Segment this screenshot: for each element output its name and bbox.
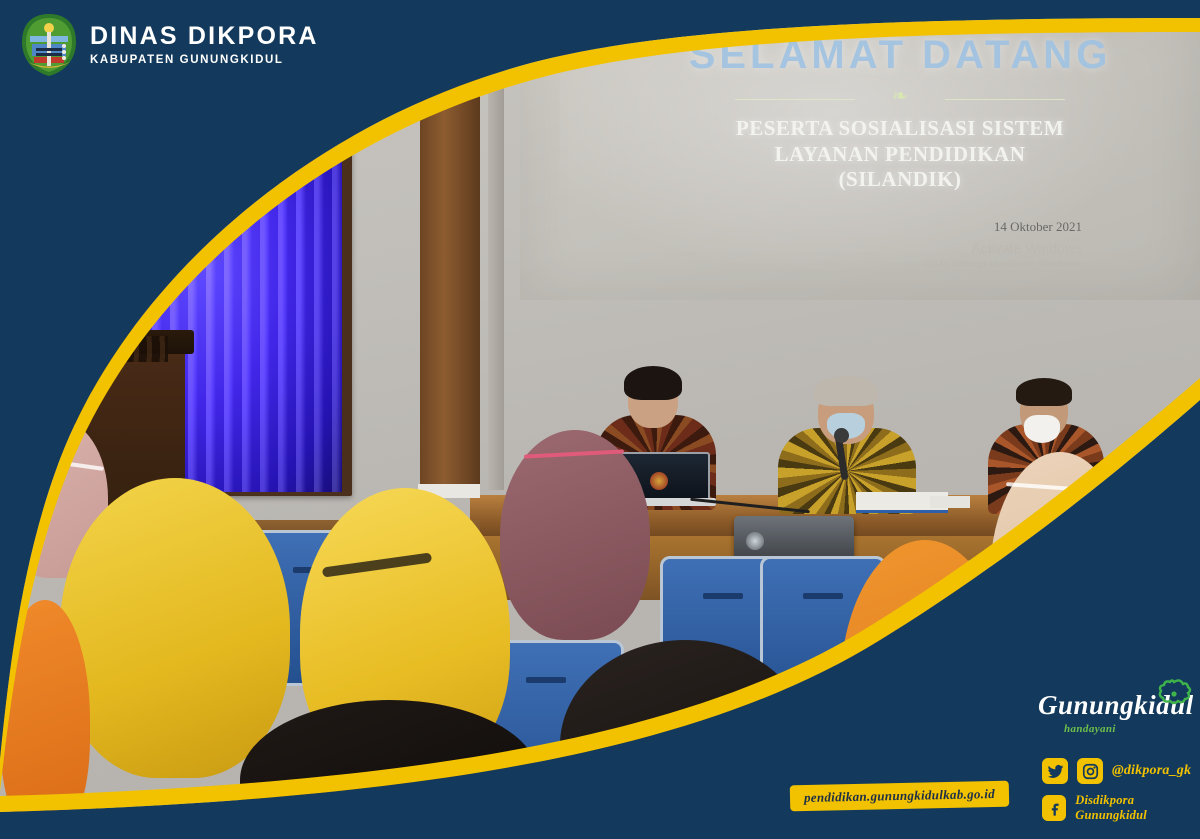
- slide-date: 14 Oktober 2021: [640, 219, 1160, 235]
- watermark-line1: Activate Windows: [640, 239, 1082, 258]
- speaker-left-hair: [624, 366, 682, 400]
- presentation-slide: SELAMAT DATANG ❧ PESERTA SOSIALISASI SIS…: [640, 34, 1160, 284]
- curtain-rod: [50, 100, 366, 108]
- slide-subtitle-line2: LAYANAN PENDIDIKAN: [640, 142, 1160, 168]
- slide-ornament-divider: ❧: [735, 92, 1065, 106]
- facebook-handle: Disdikpora Gunungkidul: [1075, 793, 1200, 823]
- header-branding: DINAS DIKPORA KABUPATEN GUNUNGKIDUL: [18, 12, 319, 78]
- organization-region: KABUPATEN GUNUNGKIDUL: [90, 55, 319, 67]
- facebook-icon[interactable]: [1042, 795, 1066, 821]
- website-url-badge[interactable]: pendidikan.gunungkidulkab.go.id: [790, 781, 1009, 812]
- podium-plaque: [44, 392, 92, 401]
- projector-lens: [746, 532, 764, 550]
- brand-tagline: handayani: [1064, 723, 1194, 735]
- wooden-door-panel: [420, 60, 480, 490]
- gunungkidul-brand-logo: Gunungkidul handayani: [1038, 692, 1194, 735]
- branded-photo-card: SELAMAT DATANG ❧ PESERTA SOSIALISASI SIS…: [0, 0, 1200, 839]
- windows-activation-watermark: Activate Windows Go to Settings to activ…: [640, 239, 1160, 271]
- name-plate-right: [930, 496, 970, 508]
- speaker-right-face-mask: [1024, 415, 1060, 443]
- ornament-glyph: ❧: [892, 85, 908, 108]
- slide-subtitle-line1: PESERTA SOSIALISASI SISTEM: [640, 116, 1160, 142]
- event-photograph: SELAMAT DATANG ❧ PESERTA SOSIALISASI SIS…: [0, 0, 1200, 839]
- social-links: @dikpora_gk Disdikpora Gunungkidul: [1042, 758, 1200, 832]
- wall-pillar: [488, 60, 504, 490]
- audience-member-maroon-hijab: [500, 430, 650, 640]
- audience-member-orange-hijab: [0, 600, 90, 839]
- gunungkidul-coat-of-arms-icon: [18, 12, 80, 78]
- social-row: Disdikpora Gunungkidul: [1042, 793, 1200, 823]
- audience-member-dark-hair: [690, 690, 920, 839]
- microphone-head: [834, 428, 849, 443]
- instagram-icon[interactable]: [1077, 758, 1103, 784]
- laptop-screen-emblem: [650, 472, 668, 490]
- social-row: @dikpora_gk: [1042, 758, 1200, 784]
- slide-title: SELAMAT DATANG: [640, 34, 1160, 76]
- curtain-rod-finial-right: [352, 94, 368, 114]
- slide-subtitle-line3: (SILANDIK): [640, 167, 1160, 193]
- handayani-ornament-icon: [1156, 678, 1192, 712]
- watermark-line2: Go to Settings to activate Windows.: [640, 258, 1082, 272]
- instagram-handle: @dikpora_gk: [1112, 763, 1191, 779]
- slide-subtitle: PESERTA SOSIALISASI SISTEM LAYANAN PENDI…: [640, 116, 1160, 193]
- speaker-right-hair: [1016, 378, 1072, 406]
- twitter-icon[interactable]: [1042, 758, 1068, 784]
- audience-member-yellow-hijab: [60, 478, 290, 778]
- organization-name: DINAS DIKPORA: [90, 24, 319, 49]
- speaker-center-hair: [814, 376, 878, 406]
- website-url-text: pendidikan.gunungkidulkab.go.id: [804, 786, 995, 806]
- curtain-rod-finial-left: [44, 94, 60, 114]
- podium-carving: [8, 336, 168, 362]
- header-text: DINAS DIKPORA KABUPATEN GUNUNGKIDUL: [90, 24, 319, 67]
